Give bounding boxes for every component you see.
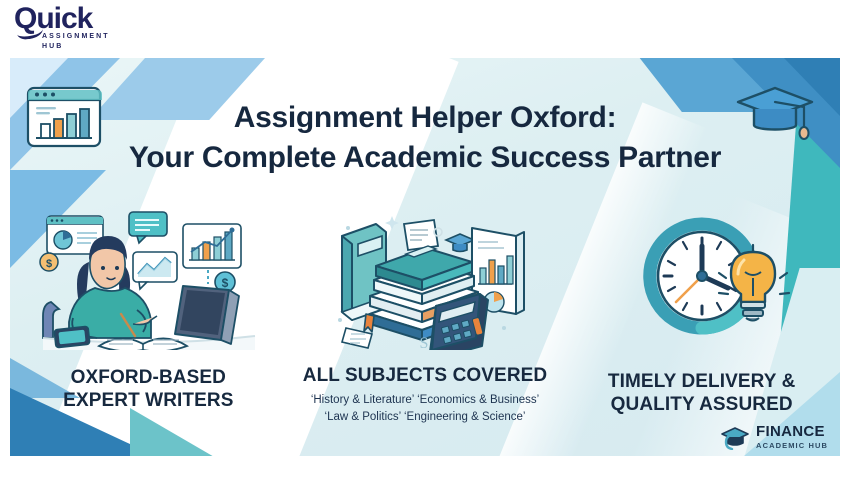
brand-logo: Quick ASSIGNMENT HUB: [0, 0, 125, 56]
feature-subtitle-line1: ‘History & Literature’ ‘Economics & Busi…: [311, 394, 539, 406]
badge-subtitle: ACADEMIC HUB: [756, 442, 828, 450]
badge-title: FINANCE: [756, 424, 828, 439]
graduation-cap-icon: [720, 424, 750, 450]
feature-caption-line2: QUALITY ASSURED: [611, 394, 793, 415]
feature-caption: ALL SUBJECTS COVERED: [303, 364, 547, 387]
student-studying-with-tablet-illustration: $: [33, 210, 268, 350]
feature-caption-line2: EXPERT WRITERS: [63, 390, 233, 411]
feature-column-timely-delivery-quality-assured: TIMELY DELIVERY & QUALITY ASSURED: [563, 210, 840, 456]
feature-column-all-subjects-covered: S ALL SUBJECTS COVERED ‘History & Litera…: [287, 210, 564, 456]
feature-columns: $: [10, 210, 840, 456]
logo-subtitle-line1: ASSIGNMENT: [42, 33, 110, 40]
feature-caption-line1: TIMELY DELIVERY &: [608, 371, 796, 392]
swoosh-underline-icon: [16, 23, 43, 41]
feature-subtitle-line2: ‘Law & Politics’ ‘Engineering & Science’: [325, 411, 526, 423]
headline-line-1: Assignment Helper Oxford:: [234, 101, 617, 134]
logo-subtitle-line2: HUB: [42, 43, 63, 50]
page-title: Assignment Helper Oxford: Your Complete …: [10, 98, 840, 178]
feature-caption: TIMELY DELIVERY & QUALITY ASSURED: [608, 370, 796, 416]
promo-banner-card: Assignment Helper Oxford: Your Complete …: [10, 58, 840, 456]
headline-line-2: Your Complete Academic Success Partner: [10, 138, 840, 178]
feature-caption: OXFORD-BASED EXPERT WRITERS: [63, 366, 233, 412]
svg-text:S: S: [419, 335, 428, 350]
feature-caption-line1: ALL SUBJECTS COVERED: [303, 365, 547, 386]
svg-text:$: $: [46, 258, 52, 270]
feature-column-oxford-based-expert-writers: $: [10, 210, 287, 456]
stack-of-books-with-calculator-illustration: S: [318, 210, 533, 350]
finance-academic-hub-badge: FINANCE ACADEMIC HUB: [720, 424, 828, 450]
feature-caption-line1: OXFORD-BASED: [71, 367, 226, 388]
svg-text:$: $: [221, 276, 228, 290]
feature-subtitle: ‘History & Literature’ ‘Economics & Busi…: [311, 392, 539, 425]
clock-with-lightbulb-illustration: [602, 210, 802, 350]
